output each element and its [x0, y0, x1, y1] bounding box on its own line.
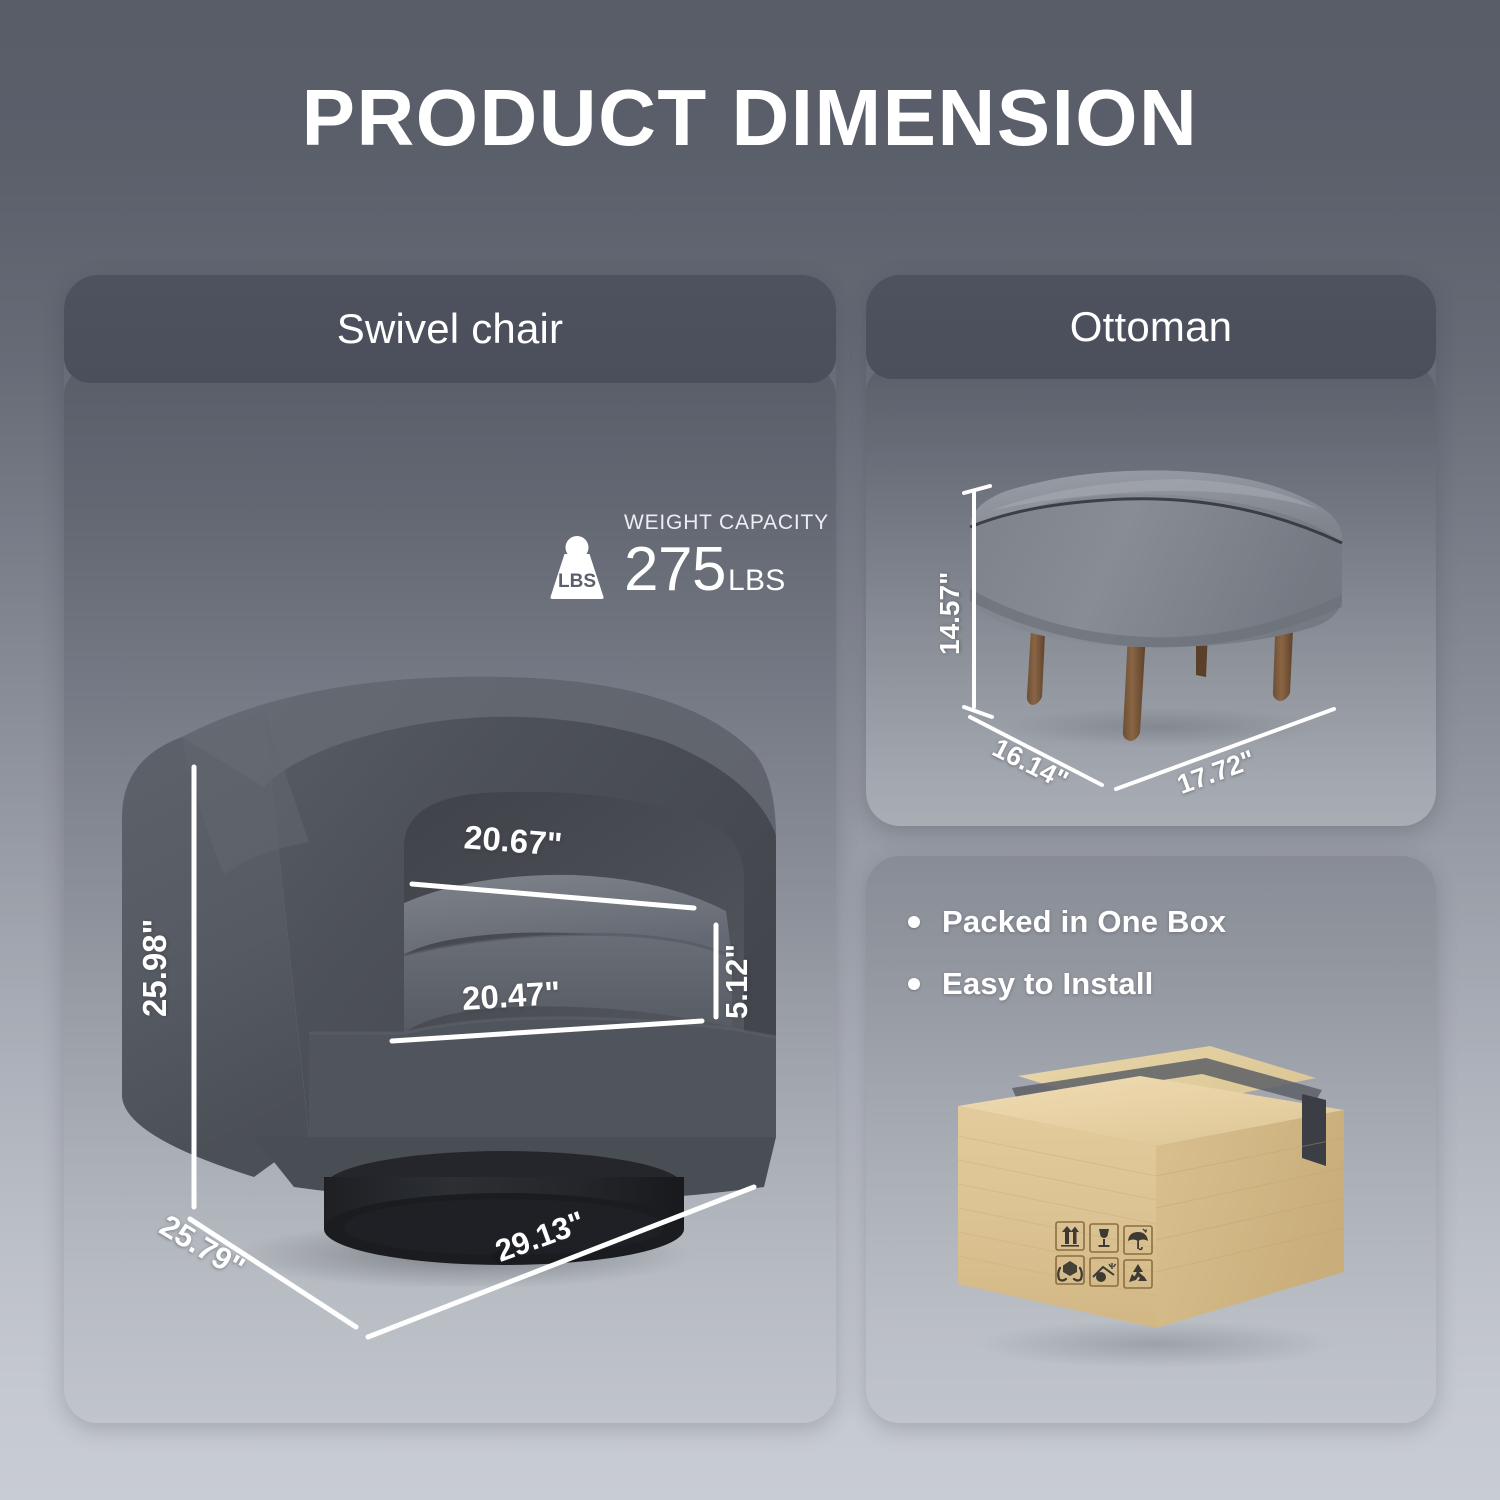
dim-overall-height: 25.98" — [136, 919, 174, 1017]
packaging-feature-list: Packed in One Box Easy to Install — [908, 904, 1226, 1028]
svg-text:LBS: LBS — [558, 571, 596, 592]
weight-capacity-value: 275 — [624, 539, 726, 601]
card-header-ottoman: Ottoman — [866, 275, 1436, 379]
weight-capacity-caption: WEIGHT CAPACITY — [624, 512, 829, 533]
weight-capacity-text: WEIGHT CAPACITY 275 LBS — [624, 512, 829, 601]
card-title-ottoman: Ottoman — [1070, 303, 1232, 351]
weight-capacity-badge: LBS WEIGHT CAPACITY 275 LBS — [546, 512, 829, 601]
weight-capacity-unit: LBS — [728, 566, 786, 596]
packaging-feature-label: Easy to Install — [942, 966, 1153, 1002]
card-title-swivel-chair: Swivel chair — [337, 305, 563, 353]
card-body-swivel-chair: LBS WEIGHT CAPACITY 275 LBS — [64, 367, 836, 1423]
page-title: PRODUCT DIMENSION — [0, 78, 1500, 158]
dim-cushion-thickness: 5.12" — [719, 944, 755, 1019]
bullet-icon — [908, 978, 920, 990]
card-ottoman: Ottoman — [866, 275, 1436, 826]
dim-seat-width: 20.47" — [461, 974, 561, 1018]
card-body-packaging: Packed in One Box Easy to Install — [866, 856, 1436, 1423]
card-header-swivel-chair: Swivel chair — [64, 275, 836, 383]
list-item: Packed in One Box — [908, 904, 1226, 940]
card-swivel-chair: Swivel chair LBS WEIGHT CAPACITY 275 LBS — [64, 275, 836, 1423]
packaging-feature-label: Packed in One Box — [942, 904, 1226, 940]
card-packaging: Packed in One Box Easy to Install — [866, 856, 1436, 1423]
ottoman-dim-height: 14.57" — [934, 572, 966, 655]
card-body-ottoman: 14.57" 16.14" 17.72" — [866, 365, 1436, 826]
weight-capacity-value-row: 275 LBS — [624, 539, 829, 601]
bullet-icon — [908, 916, 920, 928]
weight-lbs-icon: LBS — [546, 533, 608, 601]
product-dimension-infographic: PRODUCT DIMENSION Swivel chair LBS WEIGH… — [0, 0, 1500, 1500]
list-item: Easy to Install — [908, 966, 1226, 1002]
dim-seat-inner-width: 20.67" — [463, 818, 564, 864]
cardboard-box-image — [944, 1032, 1364, 1382]
